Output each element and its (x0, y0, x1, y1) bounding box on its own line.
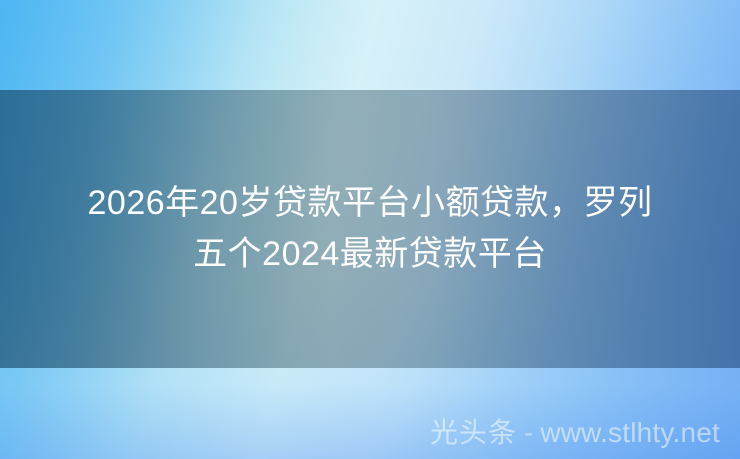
title-card: 2026年20岁贷款平台小额贷款，罗列 五个2024最新贷款平台 光头条 - w… (0, 0, 740, 459)
headline-line-2: 五个2024最新贷款平台 (193, 229, 547, 280)
headline-block: 2026年20岁贷款平台小额贷款，罗列 五个2024最新贷款平台 (0, 90, 740, 368)
headline-line-1: 2026年20岁贷款平台小额贷款，罗列 (88, 178, 653, 229)
